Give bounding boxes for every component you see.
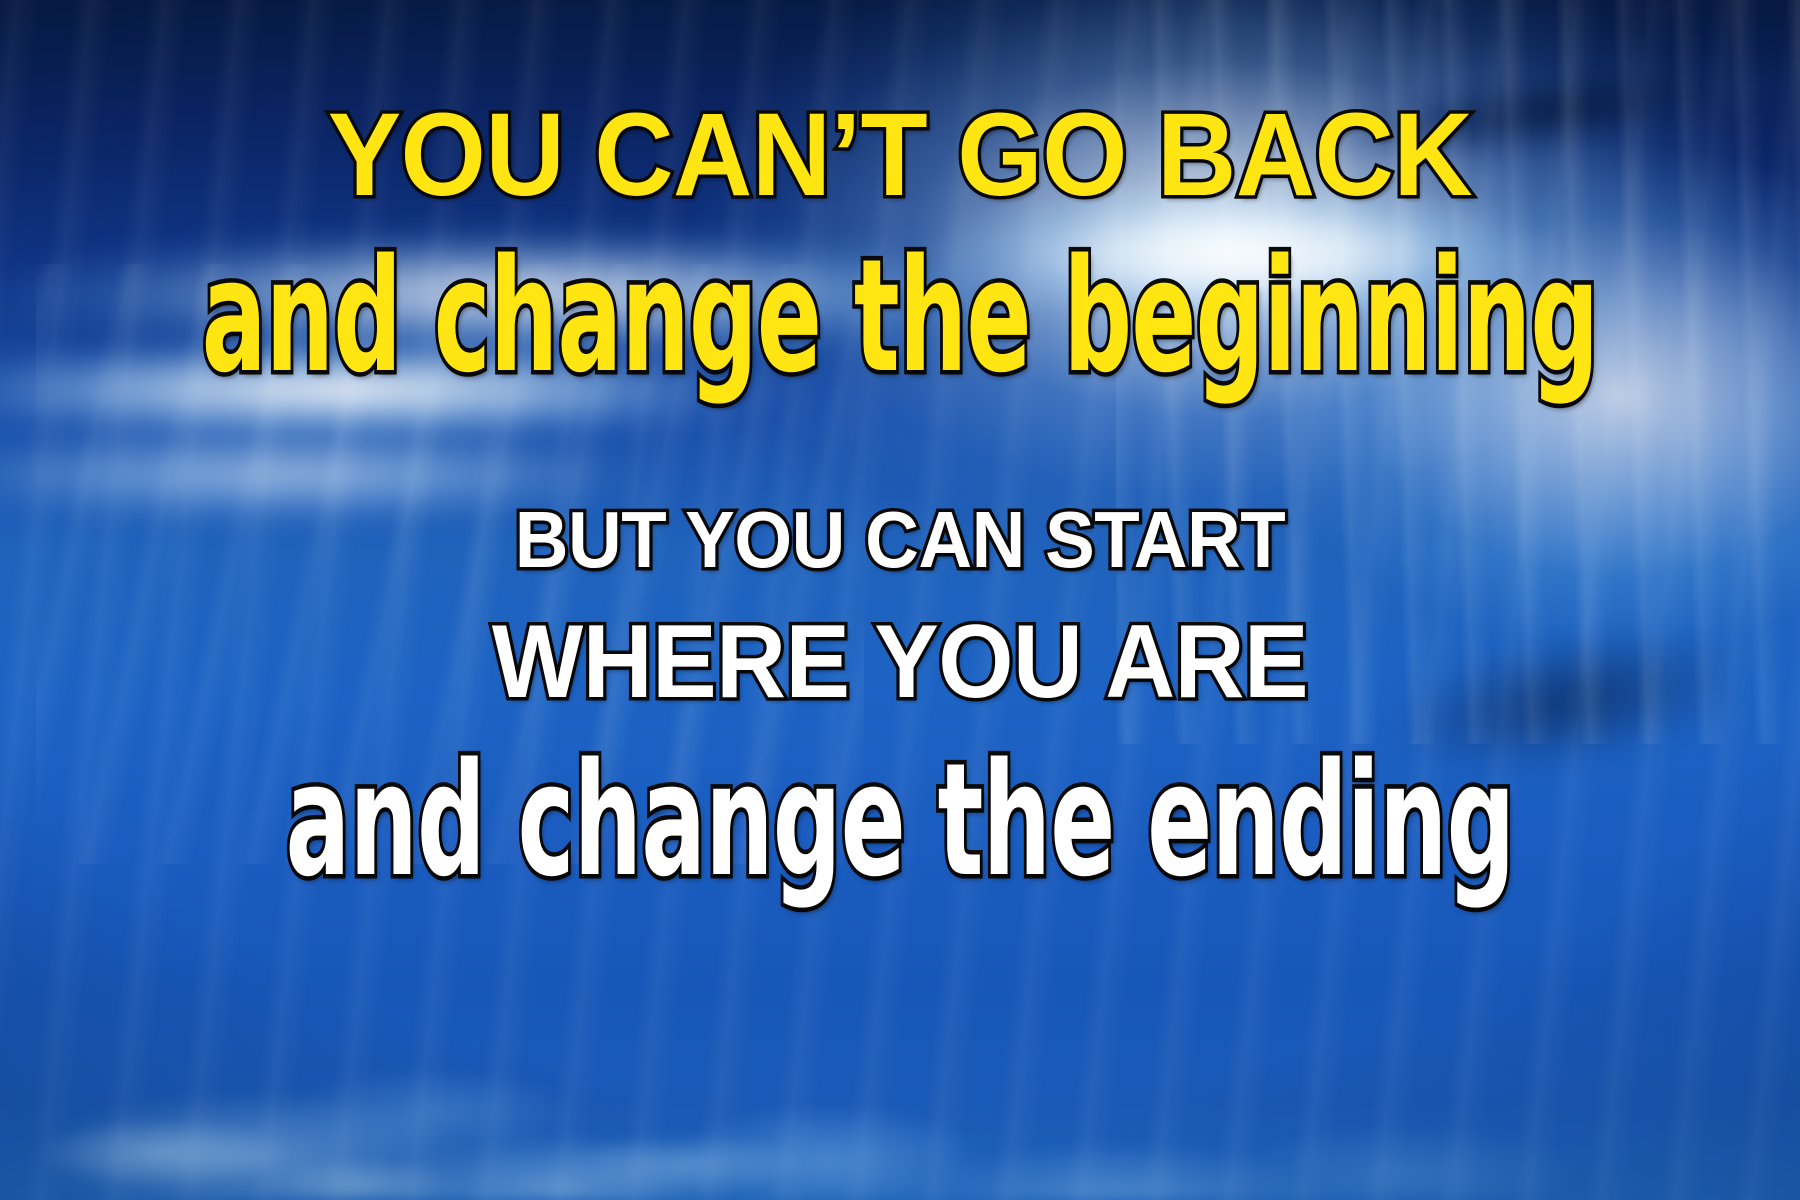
quote-line-2: and change the beginning xyxy=(180,240,1620,396)
quote-line-5: and change the ending xyxy=(180,744,1620,900)
quote-line-3: BUT YOU CAN START xyxy=(63,500,1737,580)
quote-text-layer: YOU CAN’T GO BACK and change the beginni… xyxy=(0,0,1800,1200)
quote-poster: YOU CAN’T GO BACK and change the beginni… xyxy=(0,0,1800,1200)
quote-line-4: WHERE YOU ARE xyxy=(63,610,1737,714)
quote-line-1: YOU CAN’T GO BACK xyxy=(63,96,1737,214)
